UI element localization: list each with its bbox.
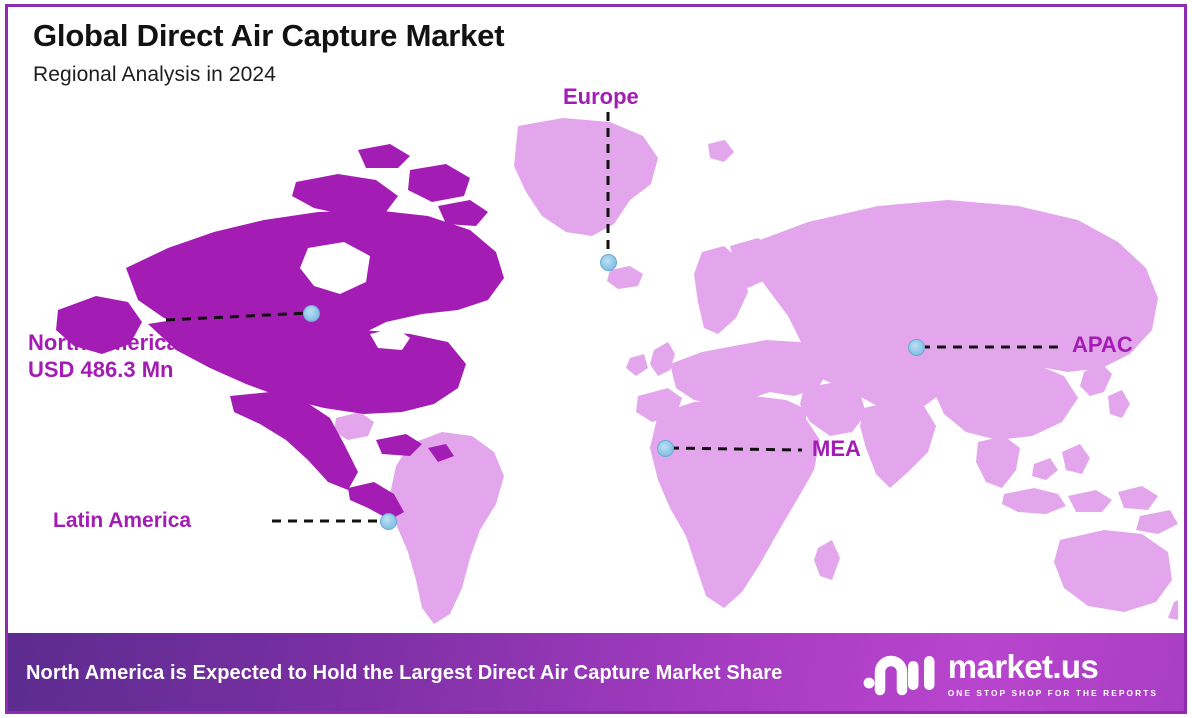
region-label-mea: MEA [812, 436, 861, 463]
leader-line-north-america [166, 313, 308, 320]
region-value-north-america: USD 486.3 Mn [28, 357, 179, 384]
page-title: Global Direct Air Capture Market [33, 18, 504, 54]
footer-headline: North America is Expected to Hold the La… [26, 660, 782, 688]
region-label-europe: Europe [563, 84, 639, 111]
map-marker-latin-america[interactable] [380, 513, 397, 530]
map-marker-north-america[interactable] [303, 305, 320, 322]
brand-tagline: ONE STOP SHOP FOR THE REPORTS [948, 688, 1158, 698]
region-label-latin-america: Latin America [53, 508, 191, 534]
region-name-mea: MEA [812, 436, 861, 461]
region-label-apac: APAC [1072, 332, 1133, 359]
region-name-north-america: North America [28, 330, 179, 355]
brand-logo-text: market.us ONE STOP SHOP FOR THE REPORTS [948, 650, 1158, 698]
region-name-apac: APAC [1072, 332, 1133, 357]
map-marker-mea[interactable] [657, 440, 674, 457]
map-marker-europe[interactable] [600, 254, 617, 271]
region-name-latin-america: Latin America [53, 509, 191, 532]
infographic-canvas: Global Direct Air Capture Market Regiona… [0, 0, 1192, 718]
brand-name: market.us [948, 650, 1099, 683]
footer-banner: North America is Expected to Hold the La… [8, 633, 1184, 714]
map-marker-apac[interactable] [908, 339, 925, 356]
brand-logo[interactable]: market.us ONE STOP SHOP FOR THE REPORTS [863, 650, 1172, 698]
market-us-logo-icon [863, 652, 937, 696]
leader-line-mea [670, 448, 802, 450]
header: Global Direct Air Capture Market Regiona… [33, 18, 504, 87]
region-name-europe: Europe [563, 84, 639, 109]
region-label-north-america: North America USD 486.3 Mn [28, 330, 179, 384]
world-map: North America USD 486.3 Mn Latin America… [0, 0, 1192, 634]
page-subtitle: Regional Analysis in 2024 [33, 63, 504, 87]
